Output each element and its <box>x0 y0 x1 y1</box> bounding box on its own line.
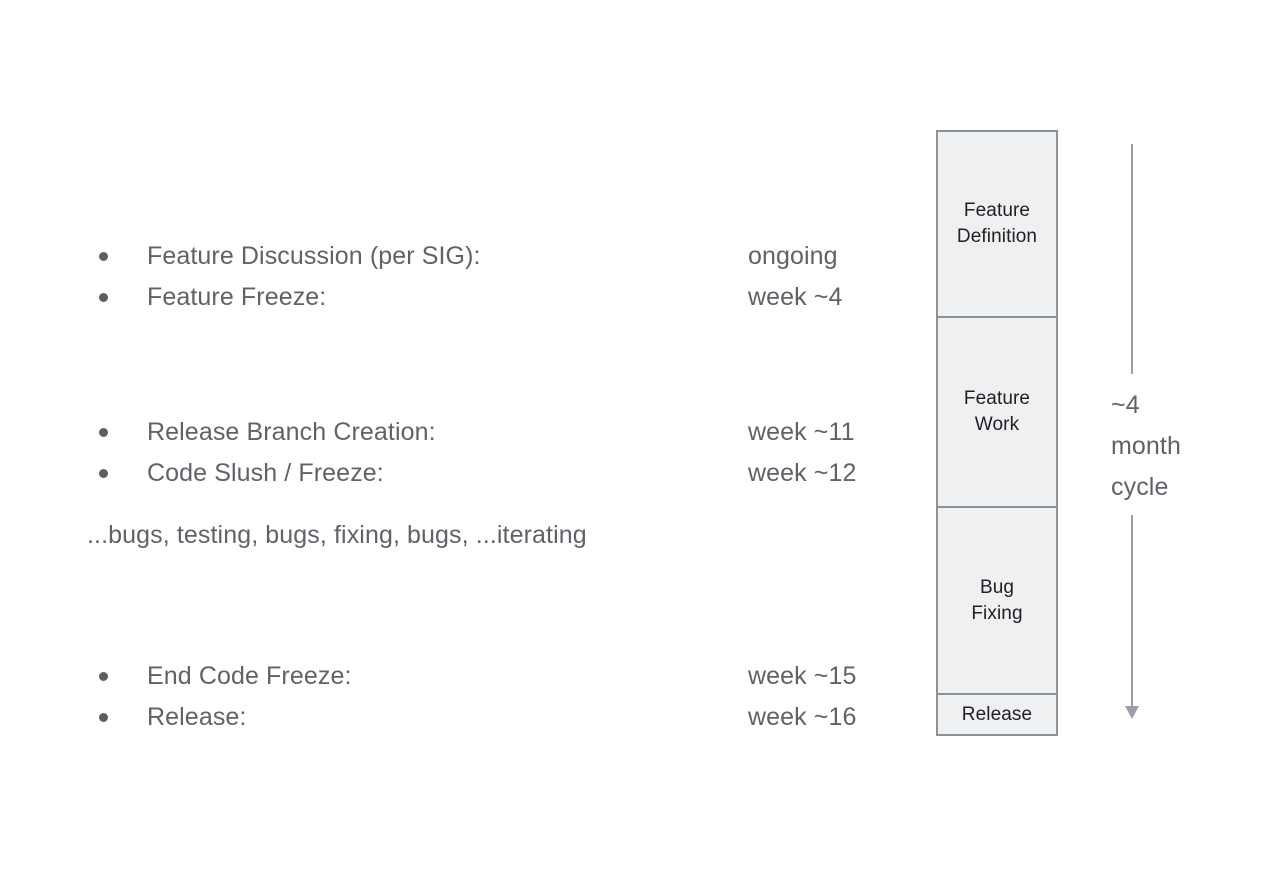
phase-segment-label-line1: Feature <box>957 198 1037 224</box>
release-timeline-text: Feature Discussion (per SIG): ongoing Fe… <box>0 0 930 895</box>
cycle-duration-label: ~4 month cycle <box>1111 385 1251 508</box>
timeline-item-label: Release: <box>147 697 246 738</box>
arrow-down-icon <box>1125 706 1139 719</box>
cycle-duration-line3: cycle <box>1111 467 1251 508</box>
release-phase-bar: Feature Definition Feature Work Bug Fixi… <box>936 130 1058 736</box>
timeline-item-value: ongoing <box>748 236 838 277</box>
cycle-arrow-line-top <box>1131 144 1133 374</box>
cycle-duration-line1: ~4 <box>1111 385 1251 426</box>
bullet-icon <box>99 713 108 722</box>
phase-segment-feature-work: Feature Work <box>938 316 1056 506</box>
phase-segment-label-line1: Bug <box>971 575 1022 601</box>
cycle-arrow-line-bottom <box>1131 515 1133 711</box>
phase-segment-label-line1: Release <box>962 702 1032 728</box>
phase-segment-feature-definition: Feature Definition <box>938 132 1056 316</box>
slide-canvas: Feature Discussion (per SIG): ongoing Fe… <box>0 0 1280 895</box>
timeline-row: Feature Freeze: week ~4 <box>0 277 930 318</box>
timeline-row: Release Branch Creation: week ~11 <box>0 412 930 453</box>
timeline-item-label: Feature Freeze: <box>147 277 326 318</box>
phase-segment-label-line2: Work <box>964 412 1030 438</box>
timeline-item-label: End Code Freeze: <box>147 656 352 697</box>
phase-segment-bug-fixing: Bug Fixing <box>938 506 1056 693</box>
phase-segment-label-line2: Definition <box>957 224 1037 250</box>
timeline-row: Code Slush / Freeze: week ~12 <box>0 453 930 494</box>
iterating-note: ...bugs, testing, bugs, fixing, bugs, ..… <box>87 521 587 550</box>
phase-segment-label: Feature Definition <box>957 198 1037 250</box>
phase-segment-release: Release <box>938 693 1056 734</box>
phase-segment-label-line2: Fixing <box>971 601 1022 627</box>
timeline-item-value: week ~12 <box>748 453 857 494</box>
phase-segment-label: Release <box>962 702 1032 728</box>
bullet-icon <box>99 672 108 681</box>
timeline-item-value: week ~11 <box>748 412 855 453</box>
timeline-row: Release: week ~16 <box>0 697 930 738</box>
timeline-item-label: Code Slush / Freeze: <box>147 453 384 494</box>
timeline-item-value: week ~4 <box>748 277 843 318</box>
timeline-group-1: Feature Discussion (per SIG): ongoing Fe… <box>0 236 930 318</box>
timeline-item-value: week ~15 <box>748 656 857 697</box>
cycle-duration-line2: month <box>1111 426 1251 467</box>
timeline-group-2: Release Branch Creation: week ~11 Code S… <box>0 412 930 494</box>
bullet-icon <box>99 428 108 437</box>
timeline-item-value: week ~16 <box>748 697 857 738</box>
timeline-row: End Code Freeze: week ~15 <box>0 656 930 697</box>
timeline-row: Feature Discussion (per SIG): ongoing <box>0 236 930 277</box>
bullet-icon <box>99 252 108 261</box>
phase-segment-label: Bug Fixing <box>971 575 1022 627</box>
timeline-item-label: Release Branch Creation: <box>147 412 436 453</box>
cycle-duration-annotation: ~4 month cycle <box>1100 130 1260 730</box>
bullet-icon <box>99 469 108 478</box>
timeline-group-3: End Code Freeze: week ~15 Release: week … <box>0 656 930 738</box>
phase-segment-label-line1: Feature <box>964 386 1030 412</box>
phase-segment-label: Feature Work <box>964 386 1030 438</box>
bullet-icon <box>99 293 108 302</box>
timeline-item-label: Feature Discussion (per SIG): <box>147 236 481 277</box>
